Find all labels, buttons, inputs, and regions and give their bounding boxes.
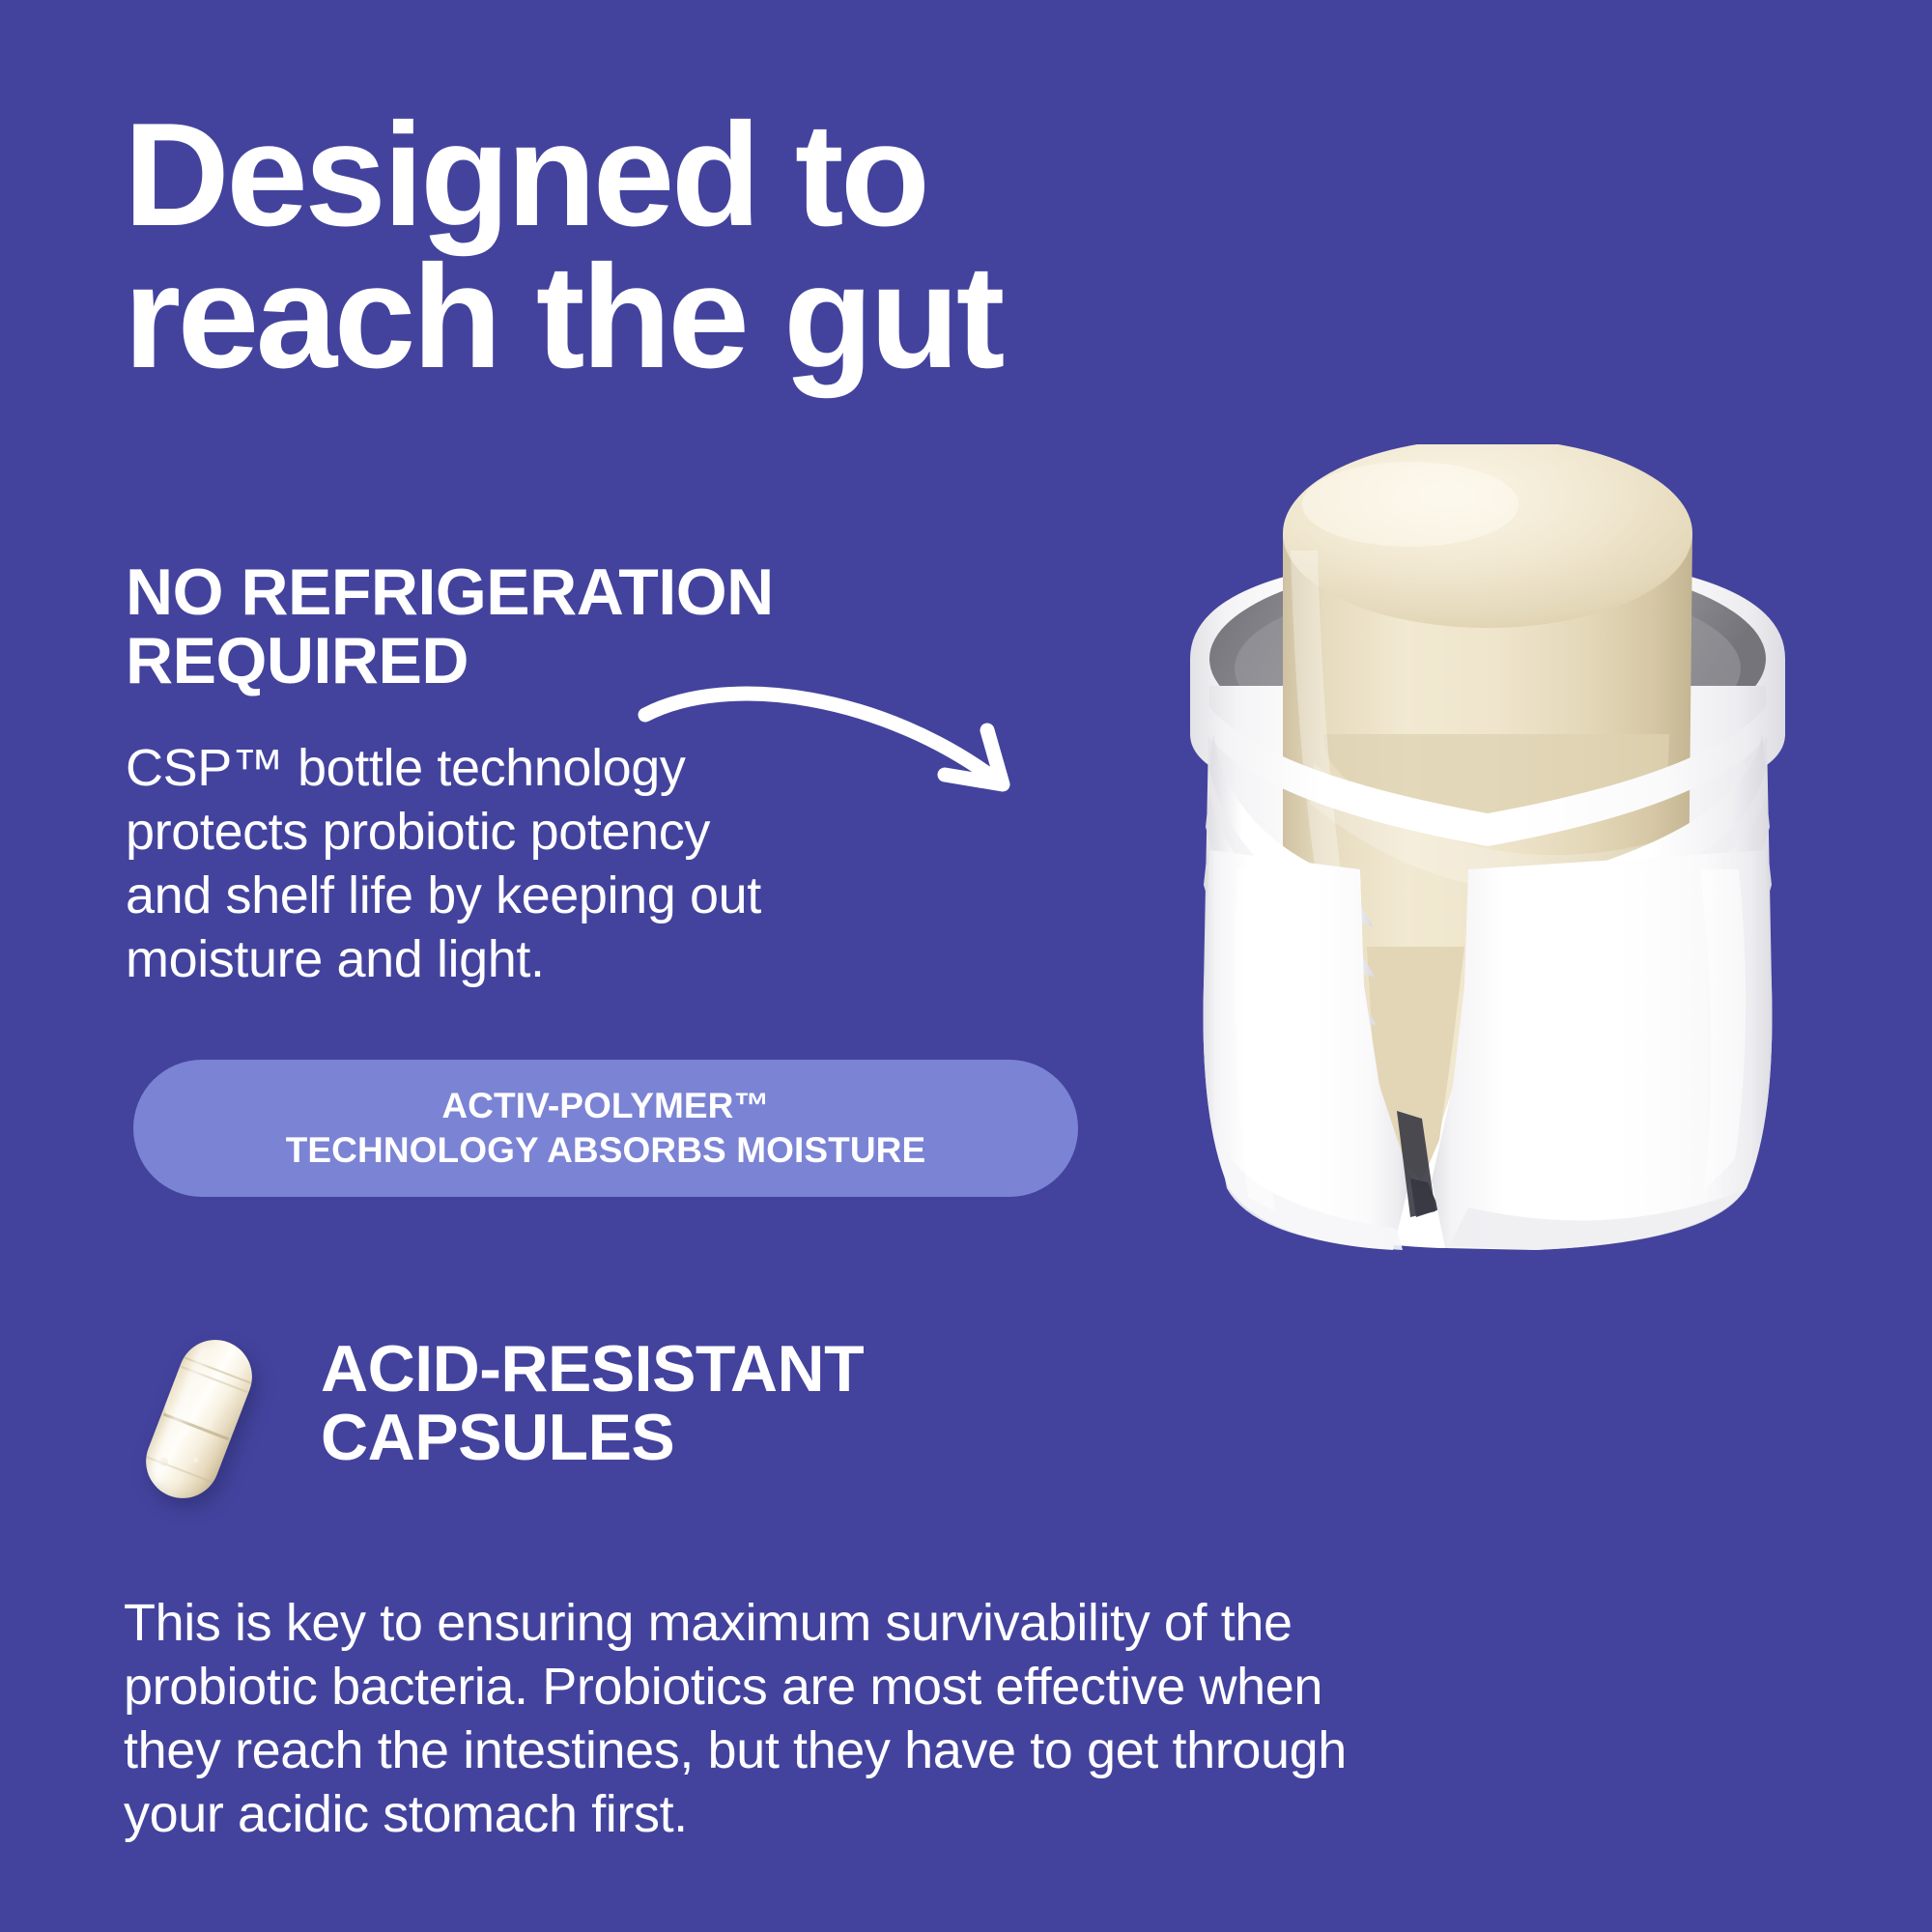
cutaway-bottle-illustration bbox=[1121, 444, 1855, 1256]
acid-resistant-body-line-4: your acidic stomach first. bbox=[124, 1783, 1766, 1847]
page-title-line-1: Designed to bbox=[124, 104, 1264, 246]
no-refrigeration-section: NO REFRIGERATION REQUIRED CSP™ bottle te… bbox=[126, 558, 918, 992]
no-refrigeration-body-line-4: moisture and light. bbox=[126, 928, 898, 992]
acid-resistant-heading-line-2: CAPSULES bbox=[321, 1404, 864, 1472]
page-title-line-2: reach the gut bbox=[124, 246, 1264, 388]
acid-resistant-heading: ACID-RESISTANT CAPSULES bbox=[321, 1331, 864, 1471]
activ-polymer-badge-label: ACTIV-POLYMER™ TECHNOLOGY ABSORBS MOISTU… bbox=[286, 1084, 926, 1173]
no-refrigeration-body-line-2: protects probiotic potency bbox=[126, 801, 898, 865]
activ-polymer-badge-line-1: ACTIV-POLYMER™ bbox=[286, 1084, 926, 1128]
acid-resistant-body-line-2: probiotic bacteria. Probiotics are most … bbox=[124, 1656, 1766, 1719]
no-refrigeration-heading: NO REFRIGERATION REQUIRED bbox=[126, 558, 918, 695]
no-refrigeration-heading-line-1: NO REFRIGERATION bbox=[126, 558, 918, 627]
acid-resistant-body-line-1: This is key to ensuring maximum survivab… bbox=[124, 1592, 1766, 1656]
acid-resistant-body-line-3: they reach the intestines, but they have… bbox=[124, 1719, 1766, 1783]
acid-resistant-section: ACID-RESISTANT CAPSULES This is key to e… bbox=[126, 1331, 1826, 1847]
no-refrigeration-heading-line-2: REQUIRED bbox=[126, 627, 918, 696]
capsule-icon bbox=[133, 1325, 278, 1528]
acid-resistant-heading-row: ACID-RESISTANT CAPSULES bbox=[126, 1331, 1826, 1528]
liner-dome-gloss bbox=[1302, 462, 1519, 547]
acid-resistant-body: This is key to ensuring maximum survivab… bbox=[124, 1592, 1766, 1847]
no-refrigeration-body-line-1: CSP™ bottle technology bbox=[126, 737, 898, 801]
no-refrigeration-body: CSP™ bottle technology protects probioti… bbox=[126, 737, 898, 992]
activ-polymer-badge-line-2: TECHNOLOGY ABSORBS MOISTURE bbox=[286, 1128, 926, 1173]
bottle-svg bbox=[1121, 444, 1855, 1256]
no-refrigeration-body-line-3: and shelf life by keeping out bbox=[126, 865, 898, 928]
page-title: Designed to reach the gut bbox=[124, 104, 1264, 389]
activ-polymer-badge: ACTIV-POLYMER™ TECHNOLOGY ABSORBS MOISTU… bbox=[133, 1060, 1078, 1197]
acid-resistant-heading-line-1: ACID-RESISTANT bbox=[321, 1335, 864, 1404]
